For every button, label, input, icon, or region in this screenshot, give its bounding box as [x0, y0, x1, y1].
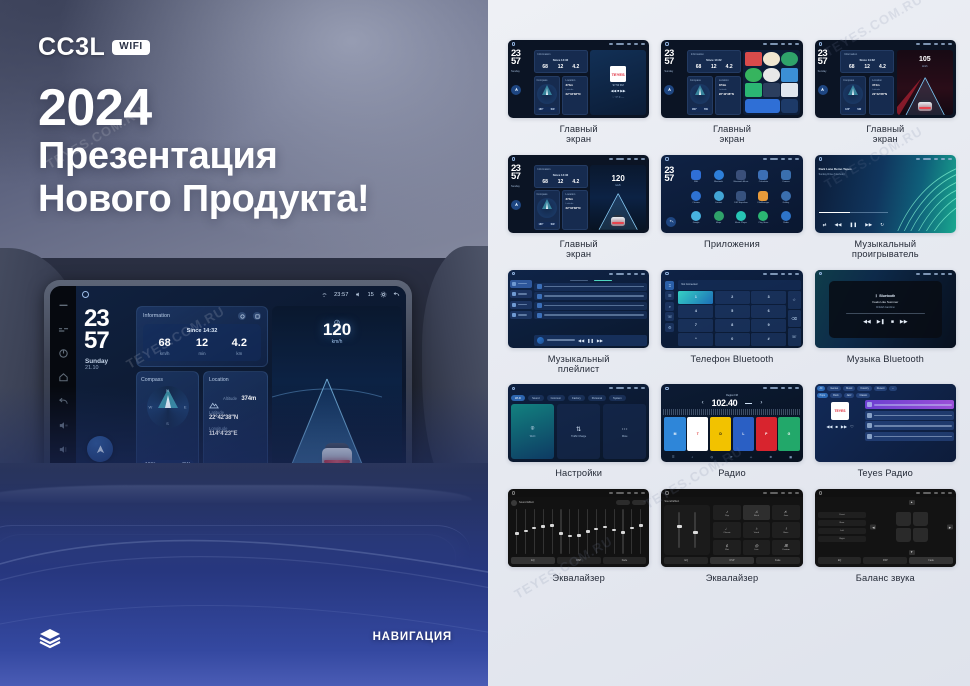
app-tile[interactable]: [781, 52, 797, 66]
balance-preset[interactable]: Left: [818, 528, 867, 534]
navigation-arrow-icon[interactable]: [818, 85, 828, 95]
mini-alt: 374m: [719, 83, 738, 87]
mini-since: Since 14:32: [538, 58, 584, 62]
favorite-icon: ♡: [850, 424, 854, 429]
dial-key[interactable]: 3: [751, 291, 786, 304]
thumbnail-bluetooth-music[interactable]: ᛒBluetooth Feels Like Summer Childish Ga…: [815, 270, 956, 348]
gallery-item[interactable]: Wi-Fi Sound Common Factory Personal Syst…: [508, 384, 649, 478]
scan-icon: ⟳: [730, 455, 733, 459]
balance-presets[interactable]: Front Rear Left Right: [818, 500, 867, 555]
equalizer-simple-view[interactable]: Sound Effect ♪Pop ♫Rock ♬Jazz ♩Classic: [661, 497, 802, 567]
station-preset[interactable]: M: [664, 417, 685, 451]
mini-speed-value: 105: [897, 56, 953, 63]
gallery-item[interactable]: 2357Sunday Information Since 14:32 68124…: [508, 155, 649, 260]
track-row[interactable]: [534, 292, 647, 300]
stop-icon: ■: [891, 319, 894, 325]
divider: [745, 403, 752, 404]
eq-preset[interactable]: ♬Jazz: [772, 505, 799, 520]
mini-stat: 68: [538, 64, 553, 70]
teyes-tab[interactable]: Genres: [827, 386, 841, 391]
mini-clock-day: Sunday: [664, 70, 684, 73]
station-preset[interactable]: P: [756, 417, 777, 451]
longitude-value: 114°4'23"E: [209, 431, 262, 437]
gallery-item[interactable]: 2357Sunday Information Since 14:32 68124…: [661, 40, 802, 145]
expand-icon[interactable]: [253, 312, 261, 320]
layers-icon: [38, 626, 62, 648]
mini-lat: 22°42'38"N: [566, 206, 585, 210]
eq-band[interactable]: [531, 509, 538, 554]
mini-lat-lab: Latitude: [566, 89, 585, 91]
dial-key[interactable]: 4: [678, 305, 713, 318]
dialpad-icon[interactable]: ⌗: [665, 281, 674, 290]
station-row[interactable]: [865, 432, 954, 441]
next-station-icon[interactable]: ›: [760, 400, 762, 406]
mini-lat: 22°42'38"N: [872, 92, 891, 96]
gallery-item[interactable]: 2357Sunday Information Since 14:32 68124…: [508, 40, 649, 145]
clock-widget[interactable]: 23 57 Sunday 21.10: [80, 306, 132, 476]
app-item[interactable]: Maps: [708, 208, 729, 228]
mini-dir: SW: [704, 108, 708, 111]
next-icon[interactable]: ▶▶: [597, 338, 603, 343]
mini-compass-title: Compass: [843, 79, 863, 82]
balance-view[interactable]: Front Rear Left Right ▲ ▼ ◀ ▶: [815, 497, 956, 567]
balance-preset[interactable]: Right: [818, 536, 867, 542]
gallery-item[interactable]: Dark Lane Demo Tapes Sunday Drive (Inter…: [815, 155, 956, 260]
app-item[interactable]: Google: [685, 208, 706, 228]
thumbnail-apps[interactable]: 23 57 WiFi Bluetooth Bluetooth Music Cal…: [661, 155, 802, 233]
eq-band[interactable]: [566, 509, 573, 554]
eq-footer-btn[interactable]: EQ: [818, 557, 862, 564]
balance-preset[interactable]: Rear: [818, 520, 867, 526]
teyes-radio-view[interactable]: All Genres Music Country Recent ⌕ Pops R…: [815, 384, 956, 462]
gallery-item[interactable]: ⌗ ☰ ⌕ ☏ ⚙ Not Connected 1 2: [661, 270, 802, 375]
mini-player[interactable]: ◀◀ ❚❚ ▶▶: [534, 335, 647, 346]
app-item[interactable]: Bluetooth Music: [730, 167, 751, 187]
settings-tab[interactable]: Common: [547, 395, 566, 401]
thumb-label-line1: Главный: [560, 239, 598, 249]
eq-preset[interactable]: ♫Rock: [743, 505, 770, 520]
balance-pad[interactable]: ▲ ▼ ◀ ▶: [870, 500, 953, 555]
stop-icon: ■: [835, 424, 837, 429]
mountain-icon: [209, 397, 219, 405]
settings-tab[interactable]: Wi-Fi: [511, 395, 525, 401]
clock-weekday: Sunday: [80, 358, 132, 365]
mini-bearing: 180°: [539, 108, 544, 111]
eq-preset[interactable]: ♮Bass: [772, 522, 799, 537]
media-controls[interactable]: ◀◀▶❚■▶▶: [863, 319, 907, 325]
track-row[interactable]: [534, 311, 647, 319]
app-item[interactable]: Chrome: [685, 187, 706, 207]
gear-icon[interactable]: [380, 291, 387, 298]
screenshot-grid: 2357Sunday Information Since 14:32 68124…: [508, 40, 956, 593]
teyes-tab[interactable]: Music: [843, 386, 855, 391]
mini-alt: 374m: [872, 83, 891, 87]
back-icon[interactable]: [666, 217, 676, 227]
dialpad-view[interactable]: ⌗ ☰ ⌕ ☏ ⚙ Not Connected 1 2: [661, 278, 802, 348]
list-tab[interactable]: [570, 280, 588, 282]
eq-band[interactable]: [610, 509, 617, 554]
stat-time-unit: min: [183, 351, 220, 356]
call-history-icon[interactable]: ☏: [665, 312, 674, 321]
gallery-item[interactable]: 23 57 WiFi Bluetooth Bluetooth Music Cal…: [661, 155, 802, 260]
teyes-subtab[interactable]: Pops: [817, 393, 828, 398]
eq-title: Sound Effect: [664, 500, 679, 503]
stat-distance: 4.2 km: [221, 338, 258, 356]
wifi-icon: ⌾: [531, 426, 535, 433]
equalizer-view[interactable]: Sound Effect: [508, 497, 649, 567]
balance-down-button[interactable]: ▼: [909, 550, 915, 555]
slide-footer: НАВИГАЦИЯ: [38, 626, 452, 648]
settings-view[interactable]: Wi-Fi Sound Common Factory Personal Syst…: [508, 392, 649, 462]
settings-card[interactable]: ⌾Wi-Fi: [511, 404, 554, 459]
compass-title: Compass: [141, 377, 194, 383]
eq-band[interactable]: [619, 509, 626, 554]
eq-footer-btn[interactable]: EQ: [511, 557, 555, 564]
gallery-item[interactable]: All Genres Music Country Recent ⌕ Pops R…: [815, 384, 956, 478]
app-item[interactable]: Play Store: [753, 208, 774, 228]
search-icon[interactable]: ⌕: [889, 386, 896, 391]
album-art: TEYES: [831, 402, 849, 420]
eq-preset[interactable]: ♩Classic: [713, 522, 740, 537]
navigation-arrow-icon[interactable]: [664, 85, 674, 95]
eq-band[interactable]: [548, 509, 555, 554]
settings-tab[interactable]: Personal: [588, 395, 606, 401]
thumbnail-home-speed[interactable]: 2357Sunday Information Since 14:32 68124…: [508, 155, 649, 233]
thumb-label-line2: экран: [873, 134, 898, 144]
mini-stat: 12: [553, 64, 568, 70]
station-preset[interactable]: T: [687, 417, 708, 451]
app-tile[interactable]: [763, 83, 779, 97]
refresh-icon[interactable]: [238, 312, 246, 320]
eq-band[interactable]: [628, 509, 635, 554]
call-icon[interactable]: ☏: [788, 328, 801, 345]
thumb-label-line1: Телефон Bluetooth: [690, 354, 773, 364]
thumbnail-home-music[interactable]: 2357Sunday Information Since 14:32 68124…: [508, 40, 649, 118]
headline-line-2: Нового Продукта!: [38, 178, 468, 221]
radio-toolbar[interactable]: ☰⌕◎ ⟳⊹⚙▦: [663, 453, 800, 460]
teyes-subtab[interactable]: Rock: [830, 393, 841, 398]
hardware-buttons[interactable]: [50, 286, 76, 480]
dial-key[interactable]: #: [751, 333, 786, 346]
media-controls[interactable]: ◀◀ ■ ▶▶: [611, 89, 626, 93]
thumb-label-line1: Главный: [866, 124, 904, 134]
teyes-tab[interactable]: All: [817, 386, 826, 391]
mini-stat: 68: [844, 64, 859, 70]
playlist-tab[interactable]: [510, 290, 532, 298]
app-item[interactable]: Music Player: [730, 208, 751, 228]
thumb-label-line1: Музыкальный: [854, 239, 916, 249]
eq-slider[interactable]: [678, 512, 680, 548]
mini-dir: SW: [551, 223, 555, 226]
settings-tab[interactable]: Sound: [528, 395, 544, 401]
eq-band[interactable]: [557, 509, 564, 554]
media-extra-controls[interactable]: ♡ ⟳ ≡ ⋯: [612, 95, 624, 99]
mini-stat: 4.2: [721, 64, 736, 70]
mini-info-title: Information: [538, 168, 584, 171]
eq-preset[interactable]: [632, 500, 646, 505]
radio-view[interactable]: Region FM ‹ 102.40 › M T D L: [661, 392, 802, 462]
app-item[interactable]: Camera: [775, 167, 796, 187]
more-icon: ⋯: [622, 426, 628, 433]
app-item[interactable]: Calculator: [753, 167, 774, 187]
app-item[interactable]: Contact: [708, 187, 729, 207]
app-tile[interactable]: [763, 52, 779, 66]
product-logo: CC3L WIFI: [38, 33, 150, 62]
stat-speed: 68 km/h: [146, 338, 183, 356]
eq-band[interactable]: [584, 509, 591, 554]
thumbnail-music-player[interactable]: Dark Lane Demo Tapes Sunday Drive (Inter…: [815, 155, 956, 233]
prev-station-icon[interactable]: ‹: [702, 400, 704, 406]
pause-icon[interactable]: ❚❚: [587, 338, 594, 343]
bt-title: Bluetooth: [879, 294, 895, 298]
app-item[interactable]: Radio: [775, 208, 796, 228]
thumbnail-settings[interactable]: Wi-Fi Sound Common Factory Personal Syst…: [508, 384, 649, 462]
thumbnail-equalizer-bands[interactable]: Sound Effect: [508, 489, 649, 567]
mini-clock-day: Sunday: [511, 70, 531, 73]
track-row[interactable]: [534, 302, 647, 310]
teyes-tab[interactable]: Recent: [874, 386, 888, 391]
mini-compass-title: Compass: [537, 79, 557, 82]
apps-grid[interactable]: WiFi Bluetooth Bluetooth Music Calculato…: [683, 165, 798, 230]
app-tile[interactable]: [763, 68, 779, 82]
eq-preset[interactable]: ♯Flat: [713, 540, 740, 555]
eq-footer-btn[interactable]: Fade: [909, 557, 953, 564]
settings-icon: ⚙: [769, 455, 772, 459]
dial-key[interactable]: 5: [715, 305, 750, 318]
progress-bar[interactable]: [846, 313, 925, 314]
gallery-item[interactable]: ᛒBluetooth Feels Like Summer Childish Ga…: [815, 270, 956, 375]
dial-key[interactable]: 9: [751, 319, 786, 332]
navigation-arrow-icon[interactable]: [511, 85, 521, 95]
mini-dir: SW: [857, 108, 861, 111]
app-tile[interactable]: [781, 83, 797, 97]
mini-lat-lab: Latitude: [719, 89, 738, 91]
eq-footer-btn[interactable]: Fade: [756, 557, 800, 564]
eq-preset[interactable]: ♭Vocal: [743, 522, 770, 537]
preset-stations[interactable]: M T D L P G: [663, 415, 800, 453]
eq-sliders[interactable]: [664, 505, 710, 555]
list-tab[interactable]: [594, 280, 612, 282]
thumbnail-home-speed-red[interactable]: 2357Sunday Information Since 14:32 68124…: [815, 40, 956, 118]
settings-card[interactable]: ⋯More: [603, 404, 646, 459]
eq-footer-btn[interactable]: DSP: [863, 557, 907, 564]
eq-footer-btn[interactable]: DSP: [557, 557, 601, 564]
headline-block: 2024 Презентация Нового Продукта!: [38, 82, 468, 222]
balance-up-button[interactable]: ▲: [909, 500, 915, 505]
settings-tab[interactable]: Factory: [568, 395, 585, 401]
home-icon[interactable]: [58, 372, 69, 383]
compass-card[interactable]: Compass N E S W: [136, 371, 199, 476]
eq-title: Sound Effect: [519, 501, 534, 504]
mini-clock-m: 57: [664, 58, 684, 66]
dash-right-trim: [422, 246, 488, 496]
mini-alt: 374m: [566, 83, 585, 87]
eq-footer-btn[interactable]: EQ: [664, 557, 708, 564]
navigation-arrow-icon[interactable]: [87, 436, 113, 462]
stat-distance-unit: km: [221, 351, 258, 356]
speed-icon: [334, 313, 341, 320]
balance-right-button[interactable]: ▶: [947, 525, 953, 530]
media-controls[interactable]: ◀◀■▶▶♡: [826, 424, 853, 429]
gallery-item[interactable]: Sound Effect ♪Pop ♫Rock ♬Jazz ♩Classic: [661, 489, 802, 583]
settings-icon[interactable]: ⚙: [665, 323, 674, 332]
traffic-icon: ⇅: [576, 426, 581, 433]
eq-band[interactable]: [540, 509, 547, 554]
teyes-tab[interactable]: Country: [857, 386, 871, 391]
gallery-item[interactable]: 2357Sunday Information Since 14:32 68124…: [815, 40, 956, 145]
gallery-item[interactable]: Region FM ‹ 102.40 › M T D L: [661, 384, 802, 478]
mini-lat-lab: Latitude: [872, 89, 891, 91]
headline-year: 2024: [38, 82, 468, 135]
eq-icon[interactable]: [58, 324, 69, 335]
playlist-tab[interactable]: [510, 301, 532, 309]
eq-band[interactable]: [513, 509, 520, 554]
eq-preset[interactable]: ◎Live: [743, 540, 770, 555]
eq-band[interactable]: [575, 509, 582, 554]
thumbnail-music-playlist[interactable]: ◀◀ ❚❚ ▶▶: [508, 270, 649, 348]
next-icon: ▶▶: [900, 319, 908, 325]
volume-down-icon[interactable]: [58, 420, 69, 431]
mini-since: Since 14:32: [538, 173, 584, 177]
app-dock[interactable]: [745, 99, 779, 113]
mini-stat: 12: [706, 64, 721, 70]
mini-clock-day: Sunday: [511, 185, 531, 188]
list-icon: ☰: [672, 455, 675, 459]
thumbnail-bluetooth-phone[interactable]: ⌗ ☰ ⌕ ☏ ⚙ Not Connected 1 2: [661, 270, 802, 348]
gallery-item[interactable]: ◀◀ ❚❚ ▶▶ Музыкальныйплейлист: [508, 270, 649, 375]
playlist-view[interactable]: ◀◀ ❚❚ ▶▶: [508, 278, 649, 348]
station-preset[interactable]: D: [710, 417, 731, 451]
station-row[interactable]: [865, 400, 954, 409]
previous-icon[interactable]: ◀◀: [578, 338, 584, 343]
mini-stat: 4.2: [568, 64, 583, 70]
station-preset[interactable]: G: [778, 417, 799, 451]
stat-time-value: 12: [183, 338, 220, 349]
dial-key[interactable]: *: [678, 333, 713, 346]
stat-distance-value: 4.2: [221, 338, 258, 349]
eq-preset[interactable]: ♪Pop: [713, 505, 740, 520]
vent-slot-left: [78, 572, 122, 576]
thumbnail-teyes-radio[interactable]: All Genres Music Country Recent ⌕ Pops R…: [815, 384, 956, 462]
previous-icon: ◀◀: [863, 319, 871, 325]
station-preset[interactable]: L: [733, 417, 754, 451]
eq-footer-btn[interactable]: Fade: [603, 557, 647, 564]
mini-clock-m: 57: [511, 58, 531, 66]
app-item[interactable]: Bluetooth: [708, 167, 729, 187]
wifi-icon: [321, 291, 328, 298]
back-icon[interactable]: [58, 396, 69, 407]
app-tile[interactable]: [745, 68, 761, 82]
mini-stat: 68: [538, 179, 553, 185]
station-row[interactable]: [865, 421, 954, 430]
eq-slider[interactable]: [694, 512, 696, 548]
mute-icon[interactable]: [58, 300, 69, 311]
app-tile[interactable]: [781, 68, 797, 82]
contacts-icon[interactable]: ☰: [665, 291, 674, 300]
backspace-icon[interactable]: ⌫: [788, 310, 801, 327]
eq-band-sliders[interactable]: [511, 506, 646, 557]
app-tile[interactable]: [745, 52, 761, 66]
track-row[interactable]: [534, 283, 647, 291]
bt-track: Feels Like Summer: [872, 300, 898, 304]
app-tile[interactable]: [745, 83, 761, 97]
eq-preset[interactable]: [616, 500, 630, 505]
latitude-value: 22°42'38"N: [209, 415, 262, 421]
playlist-tab[interactable]: [510, 311, 532, 319]
mini-since: Since 14:32: [691, 58, 737, 62]
eq-band[interactable]: [593, 509, 600, 554]
playlist-tab[interactable]: [510, 280, 532, 288]
eq-band[interactable]: [637, 509, 644, 554]
location-card[interactable]: Location Altitude 374m: [203, 371, 268, 476]
mini-compass-title: Compass: [537, 193, 557, 196]
thumb-label-line1: Эквалайзер: [552, 573, 605, 583]
eq-footer-btn[interactable]: DSP: [710, 557, 754, 564]
info-column: Information Since 14:32: [136, 306, 268, 476]
teyes-subtab[interactable]: Jazz: [844, 393, 855, 398]
eq-band[interactable]: [602, 509, 609, 554]
favorite-icon[interactable]: ☆: [788, 291, 801, 308]
app-dock[interactable]: [781, 99, 797, 113]
dial-key[interactable]: 2: [715, 291, 750, 304]
thumb-label-line1: Радио: [718, 468, 746, 478]
balance-left-button[interactable]: ◀: [870, 525, 876, 530]
mini-speed-value: 120: [590, 174, 646, 183]
gallery-item[interactable]: Sound Effect: [508, 489, 649, 583]
dial-key[interactable]: 7: [678, 319, 713, 332]
eq-preset-grid[interactable]: ♪Pop ♫Rock ♬Jazz ♩Classic ♭Vocal ♮Bass ♯…: [713, 505, 799, 555]
progress-bar[interactable]: [819, 212, 889, 213]
settings-tab[interactable]: System: [609, 395, 626, 401]
speed-widget[interactable]: 120 km/h: [272, 306, 402, 476]
teyes-subtab[interactable]: Classic: [856, 393, 870, 398]
station-row[interactable]: [865, 411, 954, 420]
head-unit-screen[interactable]: 23:57 15 23: [50, 286, 406, 480]
balance-preset[interactable]: Front: [818, 512, 867, 518]
gallery-item[interactable]: Front Rear Left Right ▲ ▼ ◀ ▶: [815, 489, 956, 583]
thumbnail-balance[interactable]: Front Rear Left Right ▲ ▼ ◀ ▶: [815, 489, 956, 567]
dial-key[interactable]: 8: [715, 319, 750, 332]
app-item[interactable]: FileManager: [753, 187, 774, 207]
eq-preset[interactable]: ⊞Custom: [772, 540, 799, 555]
media-controls[interactable]: ⇄◀◀❚❚▶▶↻: [819, 222, 889, 228]
app-item[interactable]: Gallery: [775, 187, 796, 207]
eq-band[interactable]: [522, 509, 529, 554]
dial-key[interactable]: 1: [678, 291, 713, 304]
stat-speed-unit: km/h: [146, 351, 183, 356]
search-icon: ⌕: [692, 455, 694, 459]
app-item[interactable]: WiFi: [685, 167, 706, 187]
app-item[interactable]: DSP Equalizer: [730, 187, 751, 207]
thumb-label-line2: экран: [566, 249, 591, 259]
mini-bearing: 180°: [539, 223, 544, 226]
power-icon[interactable]: [58, 348, 69, 359]
settings-card[interactable]: ⇅Traffic Charge: [557, 404, 600, 459]
information-card[interactable]: Information Since 14:32: [136, 306, 268, 367]
thumbnail-home-apps[interactable]: 2357Sunday Information Since 14:32 68124…: [661, 40, 802, 118]
dial-key[interactable]: 6: [751, 305, 786, 318]
home-circle-icon[interactable]: [82, 291, 89, 298]
navigation-arrow-icon[interactable]: [511, 200, 521, 210]
thumbnail-radio[interactable]: Region FM ‹ 102.40 › M T D L: [661, 384, 802, 462]
search-icon[interactable]: ⌕: [665, 302, 674, 311]
thumbnail-equalizer-simple[interactable]: Sound Effect ♪Pop ♫Rock ♬Jazz ♩Classic: [661, 489, 802, 567]
back-arrow-icon[interactable]: [393, 291, 400, 298]
mini-info-title: Information: [538, 53, 584, 56]
dial-key[interactable]: 0: [715, 333, 750, 346]
band-icon: ◎: [710, 455, 713, 459]
volume-up-icon[interactable]: [58, 444, 69, 455]
